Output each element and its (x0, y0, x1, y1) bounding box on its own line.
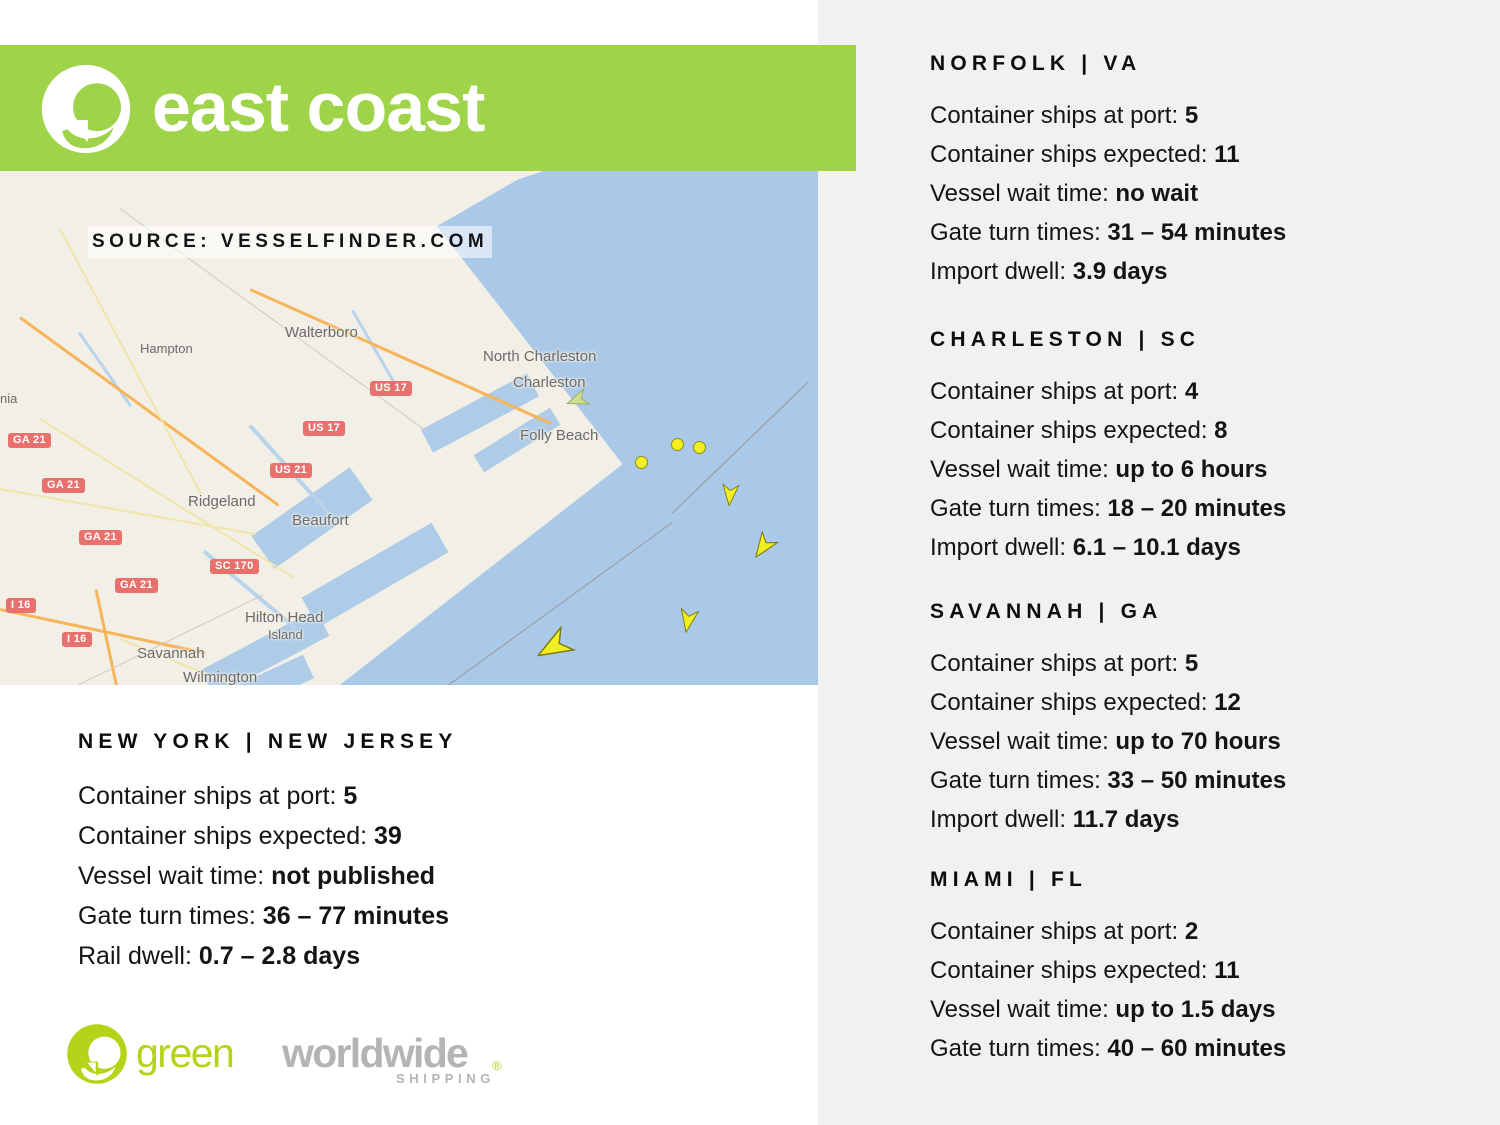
port-stat-line: Container ships at port: 5 (930, 644, 1490, 683)
port-stat-label: Container ships at port: (930, 378, 1185, 405)
port-stat-label: Container ships at port: (930, 102, 1185, 129)
port-lines-norfolk: Container ships at port: 5Container ship… (930, 96, 1490, 291)
port-stat-value: 11 (1214, 141, 1239, 168)
port-stat-label: Vessel wait time: (930, 180, 1115, 207)
port-stat-label: Gate turn times: (930, 219, 1107, 246)
port-stat-label: Vessel wait time: (930, 996, 1115, 1023)
map-route-shield: I 16 (62, 632, 92, 647)
port-stat-line: Vessel wait time: up to 6 hours (930, 450, 1490, 489)
port-stat-line: Vessel wait time: up to 70 hours (930, 722, 1490, 761)
port-stat-value: not published (271, 862, 435, 890)
port-stat-value: 36 – 77 minutes (263, 902, 449, 930)
port-heading-charleston: CHARLESTON | SC (930, 328, 1490, 352)
map-place-label: Savannah (137, 645, 205, 662)
green-worldwide-circle-arrow-icon-small (66, 1023, 128, 1085)
vessel-marker-anchored[interactable] (671, 438, 684, 451)
map-place-label: Hilton Head (245, 609, 323, 626)
port-stat-line: Container ships expected: 12 (930, 683, 1490, 722)
port-stat-line: Vessel wait time: up to 1.5 days (930, 990, 1490, 1029)
port-stat-label: Vessel wait time: (930, 456, 1115, 483)
port-stat-label: Import dwell: (930, 534, 1073, 561)
vessel-marker-underway[interactable] (718, 483, 742, 507)
port-stat-label: Container ships at port: (930, 650, 1185, 677)
port-block-savannah: SAVANNAH | GA Container ships at port: 5… (930, 600, 1490, 839)
logo-subtitle-shipping: SHIPPING (396, 1071, 495, 1086)
port-stat-value: 11 (1214, 957, 1239, 984)
map-place-label: nia (0, 390, 17, 407)
port-stat-value: 4 (1185, 378, 1198, 405)
vessel-arrow-icon (674, 607, 702, 635)
map-place-label: Walterboro (285, 324, 358, 341)
map-place-label: Beaufort (292, 512, 349, 529)
port-stat-line: Container ships expected: 11 (930, 951, 1490, 990)
logo-word-worldwide: worldwide (282, 1029, 467, 1077)
port-heading-norfolk: NORFOLK | VA (930, 52, 1490, 76)
port-stat-value: 12 (1214, 689, 1241, 716)
map-place-label: Hampton (140, 340, 193, 357)
port-lines-new-york-new-jersey: Container ships at port: 5Container ship… (78, 776, 778, 976)
port-stat-label: Gate turn times: (930, 1035, 1107, 1062)
port-stat-label: Container ships at port: (930, 918, 1185, 945)
map-place-label: North Charleston (483, 348, 596, 365)
vessel-arrow-icon (718, 483, 742, 507)
port-stat-label: Container ships expected: (78, 822, 374, 850)
vessel-arrow-icon (745, 529, 781, 565)
port-stat-label: Container ships at port: (78, 782, 343, 810)
port-lines-charleston: Container ships at port: 4Container ship… (930, 372, 1490, 567)
port-stat-line: Vessel wait time: no wait (930, 174, 1490, 213)
port-stat-value: 40 – 60 minutes (1107, 1035, 1286, 1062)
map-route-shield: US 21 (270, 463, 312, 478)
port-stat-value: up to 1.5 days (1115, 996, 1275, 1023)
port-stat-label: Gate turn times: (930, 767, 1107, 794)
port-stat-label: Rail dwell: (78, 942, 199, 970)
green-worldwide-shipping-logo: green worldwide ® SHIPPING (66, 1015, 466, 1095)
port-lines-miami: Container ships at port: 2Container ship… (930, 912, 1490, 1068)
vessel-marker-underway[interactable] (674, 607, 702, 635)
vessel-arrow-icon (528, 622, 577, 671)
port-stat-value: 0.7 – 2.8 days (199, 942, 360, 970)
port-stats-panel: NORFOLK | VA Container ships at port: 5C… (818, 0, 1500, 1125)
map-route-shield: I 16 (6, 598, 36, 613)
port-stat-value: 5 (1185, 102, 1198, 129)
port-stat-label: Container ships expected: (930, 957, 1214, 984)
port-heading-savannah: SAVANNAH | GA (930, 600, 1490, 624)
port-stat-label: Container ships expected: (930, 417, 1214, 444)
green-worldwide-circle-arrow-icon (40, 63, 132, 155)
left-column: US 17US 17US 21GA 21GA 21GA 21SC 170GA 2… (0, 0, 818, 1125)
port-stat-value: up to 70 hours (1115, 728, 1280, 755)
port-stat-line: Gate turn times: 40 – 60 minutes (930, 1029, 1490, 1068)
map-route-shield: GA 21 (42, 478, 85, 493)
port-block-new-york-new-jersey: NEW YORK | NEW JERSEY Container ships at… (78, 730, 778, 976)
map-route-shield: GA 21 (79, 530, 122, 545)
port-stat-value: 33 – 50 minutes (1107, 767, 1286, 794)
port-stat-value: up to 6 hours (1115, 456, 1267, 483)
port-block-charleston: CHARLESTON | SC Container ships at port:… (930, 328, 1490, 567)
port-stat-line: Import dwell: 11.7 days (930, 800, 1490, 839)
port-stat-value: 18 – 20 minutes (1107, 495, 1286, 522)
port-heading-new-york-new-jersey: NEW YORK | NEW JERSEY (78, 730, 778, 754)
port-stat-value: 5 (1185, 650, 1198, 677)
port-stat-line: Container ships at port: 5 (930, 96, 1490, 135)
map-place-label: Folly Beach (520, 427, 598, 444)
port-stat-line: Rail dwell: 0.7 – 2.8 days (78, 936, 778, 976)
vessel-marker-anchored[interactable] (693, 441, 706, 454)
banner-title: east coast (152, 61, 484, 153)
port-stat-line: Container ships at port: 2 (930, 912, 1490, 951)
port-stat-value: 2 (1185, 918, 1198, 945)
east-coast-banner: east coast (0, 45, 856, 171)
logo-word-green: green (136, 1029, 233, 1077)
port-stat-value: 3.9 days (1073, 258, 1168, 285)
port-stat-line: Import dwell: 3.9 days (930, 252, 1490, 291)
port-stat-line: Vessel wait time: not published (78, 856, 778, 896)
port-stat-value: 11.7 days (1073, 806, 1180, 833)
port-stat-value: 39 (374, 822, 402, 850)
map-route-shield: GA 21 (115, 578, 158, 593)
port-stat-label: Gate turn times: (78, 902, 263, 930)
vessel-marker-anchored[interactable] (635, 456, 648, 469)
map-route-shield: US 17 (370, 381, 412, 396)
port-stat-label: Vessel wait time: (78, 862, 271, 890)
port-lines-savannah: Container ships at port: 5Container ship… (930, 644, 1490, 839)
port-stat-line: Container ships at port: 4 (930, 372, 1490, 411)
port-stat-line: Container ships expected: 39 (78, 816, 778, 856)
port-stat-value: 31 – 54 minutes (1107, 219, 1286, 246)
port-stat-line: Gate turn times: 31 – 54 minutes (930, 213, 1490, 252)
map-source-label: SOURCE: VESSELFINDER.COM (88, 226, 492, 258)
port-stat-line: Container ships at port: 5 (78, 776, 778, 816)
port-stat-label: Gate turn times: (930, 495, 1107, 522)
port-stat-value: 6.1 – 10.1 days (1073, 534, 1241, 561)
port-stat-value: no wait (1115, 180, 1198, 207)
port-stat-line: Gate turn times: 33 – 50 minutes (930, 761, 1490, 800)
map-place-label: Wilmington (183, 669, 257, 685)
map-route-shield: GA 21 (8, 433, 51, 448)
map-place-label: Island (268, 626, 303, 643)
vessel-marker-underway[interactable] (528, 622, 577, 671)
map-place-label: Ridgeland (188, 493, 256, 510)
port-stat-label: Import dwell: (930, 806, 1073, 833)
port-stat-line: Import dwell: 6.1 – 10.1 days (930, 528, 1490, 567)
port-stat-value: 5 (343, 782, 357, 810)
map-route-shield: US 17 (303, 421, 345, 436)
port-stat-line: Gate turn times: 36 – 77 minutes (78, 896, 778, 936)
port-stat-line: Container ships expected: 11 (930, 135, 1490, 174)
port-stat-line: Container ships expected: 8 (930, 411, 1490, 450)
map-route-shield: SC 170 (210, 559, 259, 574)
port-stat-label: Container ships expected: (930, 689, 1214, 716)
port-stat-label: Vessel wait time: (930, 728, 1115, 755)
port-stat-label: Import dwell: (930, 258, 1073, 285)
port-stat-value: 8 (1214, 417, 1227, 444)
port-stat-label: Container ships expected: (930, 141, 1214, 168)
vessel-marker-underway[interactable] (745, 529, 781, 565)
port-block-miami: MIAMI | FL Container ships at port: 2Con… (930, 868, 1490, 1068)
port-heading-miami: MIAMI | FL (930, 868, 1490, 892)
port-block-norfolk: NORFOLK | VA Container ships at port: 5C… (930, 52, 1490, 291)
port-stat-line: Gate turn times: 18 – 20 minutes (930, 489, 1490, 528)
